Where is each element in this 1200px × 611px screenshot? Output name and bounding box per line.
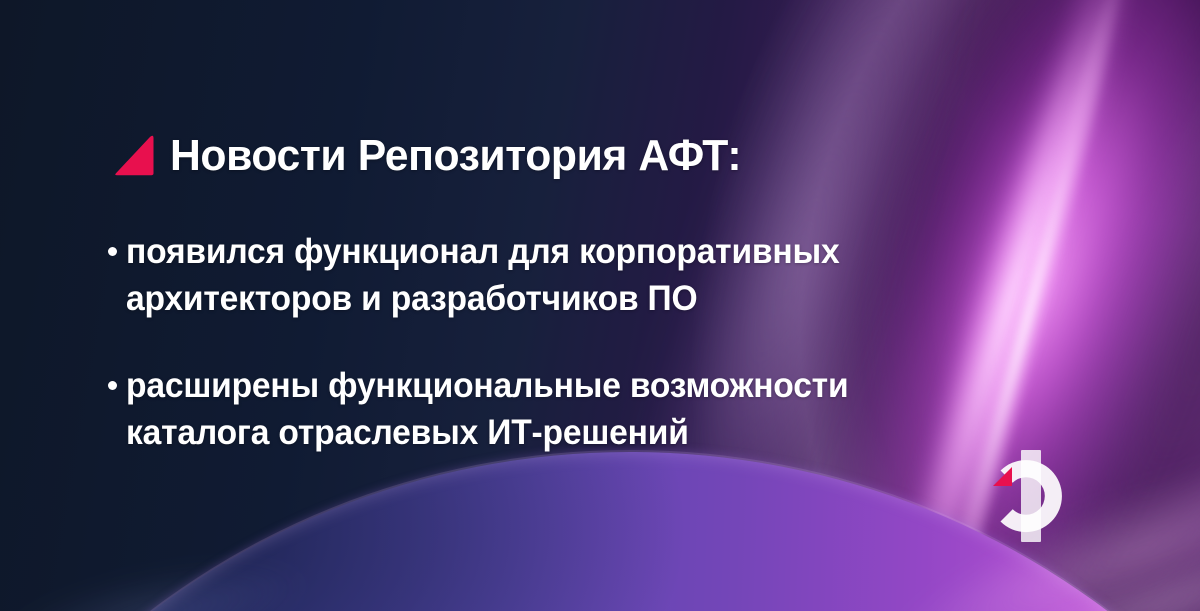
headline-row: Новости Репозитория АФТ:	[112, 131, 759, 181]
page-title: Новости Репозитория АФТ:	[170, 131, 741, 181]
bullet-item-1-line-1: появился функционал для корпоративных	[126, 232, 839, 271]
logo-bar	[1021, 450, 1041, 542]
list-item: расширены функциональные возможности кат…	[108, 362, 1008, 456]
bullet-dot-icon	[108, 381, 117, 390]
banner-content: Новости Репозитория АФТ: появился функци…	[0, 0, 1200, 611]
bullet-item-2-line-1: расширены функциональные возможности	[126, 366, 848, 405]
aft-logo-mark	[966, 436, 1086, 556]
bullet-item-1-text: появился функционал для корпоративных ар…	[126, 228, 839, 322]
aft-logo	[966, 436, 1086, 556]
bullet-item-1-line-2: архитекторов и разработчиков ПО	[126, 279, 697, 318]
bullet-item-2-line-2: каталога отраслевых ИТ-решений	[126, 413, 689, 452]
banner-canvas: Новости Репозитория АФТ: появился функци…	[0, 0, 1200, 611]
triangle-marker-icon	[112, 134, 156, 178]
bullet-dot-icon	[108, 247, 117, 256]
list-item: появился функционал для корпоративных ар…	[108, 228, 1008, 322]
bullet-list: появился функционал для корпоративных ар…	[108, 228, 1008, 456]
bullet-item-2-text: расширены функциональные возможности кат…	[126, 362, 848, 456]
